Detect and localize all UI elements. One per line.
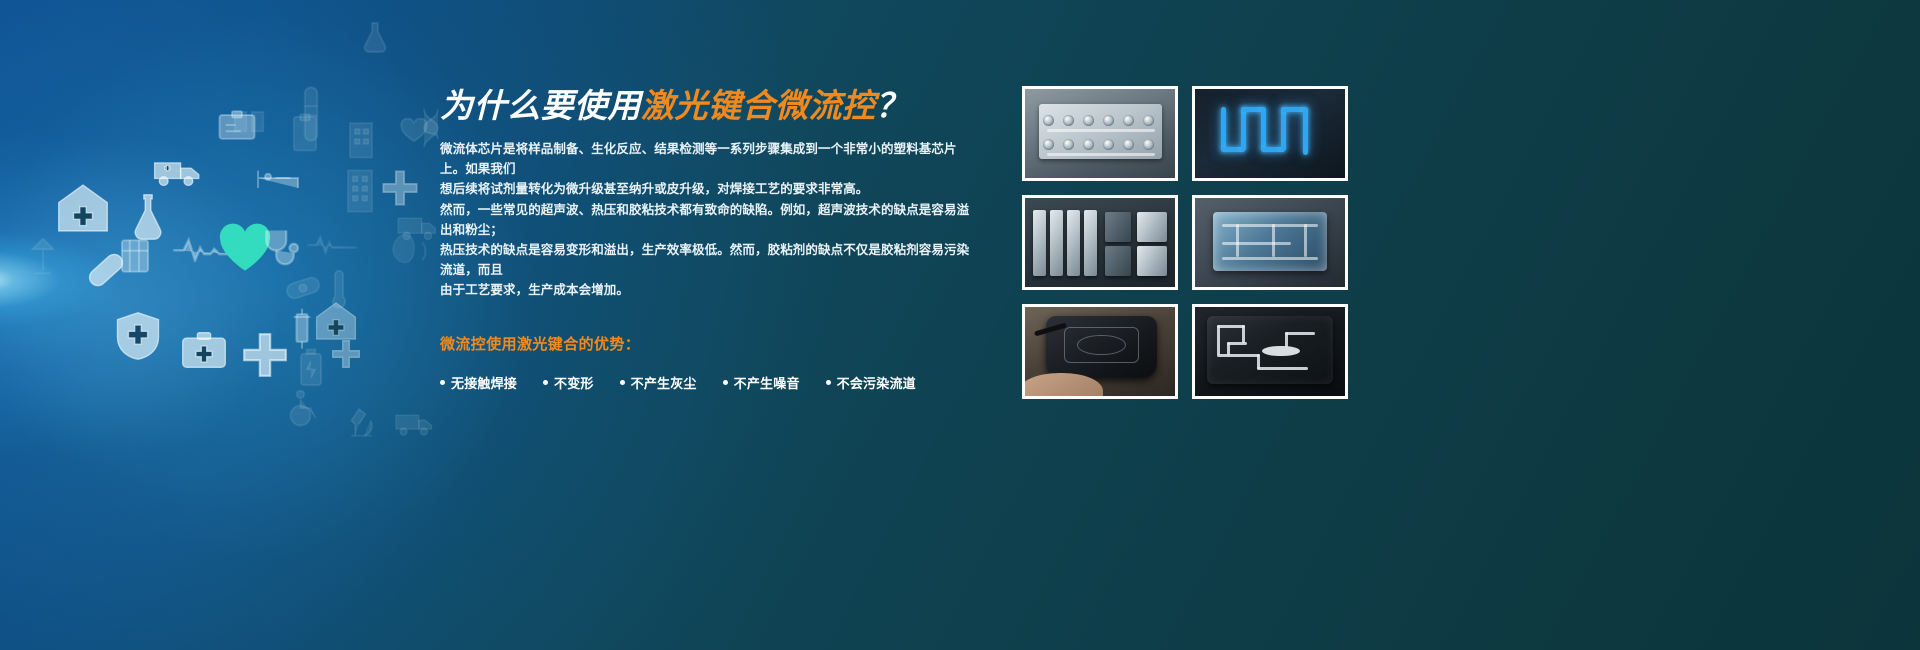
truck-icon — [396, 212, 440, 242]
id-card-icon — [218, 110, 256, 140]
photo-cartridge-channel-network[interactable] — [1192, 304, 1348, 399]
photo-flexible-cartridge-in-hand[interactable] — [1022, 304, 1178, 399]
photo-microfluidic-slide-array[interactable] — [1022, 195, 1178, 290]
serpentine-channel — [1219, 103, 1321, 162]
headline-highlight: 激光键合微流控 — [641, 87, 876, 124]
bullet-dot-icon — [826, 380, 831, 385]
list-item-label: 不变形 — [554, 373, 594, 392]
list-item-label: 不产生噪音 — [734, 373, 800, 392]
kidney-icon — [390, 232, 428, 272]
advantages-subtitle: 微流控使用激光键合的优势： — [440, 333, 970, 354]
promo-banner: 为什么要使用激光键合微流控？ 微流体芯片是将样品制备、生化反应、结果检测等一系列… — [0, 0, 1920, 650]
flask-liquid-icon — [128, 192, 168, 242]
list-item-label: 不产生灰尘 — [631, 373, 697, 392]
building-tall-icon — [344, 168, 376, 214]
house-cross-icon — [56, 182, 110, 234]
bullet-dot-icon — [723, 380, 728, 385]
paragraph-line: 微流体芯片是将样品制备、生化反应、结果检测等一系列步骤集成到一个非常小的塑料基芯… — [440, 139, 970, 179]
heartbeat-icon-2 — [306, 233, 358, 257]
paragraph-line: 想后续将试剂量转化为微升级甚至纳升或皮升级，对焊接工艺的要求非常高。 — [440, 179, 970, 199]
tablet-icon — [118, 236, 152, 276]
ambulance-icon — [152, 155, 204, 189]
heartbeat-line-icon — [172, 236, 236, 262]
photo-transparent-manifold-block[interactable] — [1192, 195, 1348, 290]
ambulance-side-icon — [394, 410, 436, 438]
reaction-chamber — [1262, 346, 1300, 357]
book-icon — [232, 108, 266, 134]
headline-suffix: ？ — [876, 87, 910, 124]
light-beam — [0, 150, 380, 410]
advantages-list: 无接触焊接 不变形 不产生灰尘 不产生噪音 不会污染流道 — [440, 373, 970, 392]
page-title: 为什么要使用激光键合微流控？ — [440, 86, 970, 126]
battery-icon — [298, 348, 324, 388]
cross-icon — [380, 168, 420, 208]
heart-icon — [218, 222, 272, 272]
paragraph-line: 由于工艺要求，生产成本会增加。 — [440, 280, 970, 300]
product-photo-gallery — [1022, 86, 1348, 399]
cartridge-card — [1207, 316, 1333, 384]
body-paragraph: 微流体芯片是将样品制备、生化反应、结果检测等一系列步骤集成到一个非常小的塑料基芯… — [440, 139, 970, 301]
well-array — [1025, 89, 1175, 178]
bullet-dot-icon — [440, 380, 445, 385]
test-tube-icon — [300, 85, 322, 143]
lamp-icon — [24, 236, 62, 276]
bullet-dot-icon — [620, 380, 625, 385]
photo-microfluidic-chip-round-wells[interactable] — [1022, 86, 1178, 181]
microscope-icon — [340, 402, 378, 444]
wheelchair-icon — [284, 388, 322, 428]
syringe-icon — [288, 306, 316, 350]
building-icon — [346, 118, 376, 160]
house-medical-icon — [314, 300, 358, 342]
list-item: 无接触焊接 — [440, 373, 517, 392]
shield-cross-icon — [112, 310, 164, 362]
list-item-label: 不会污染流道 — [837, 373, 916, 392]
hospital-bed-icon — [255, 163, 301, 193]
photo-serpentine-channel-chip[interactable] — [1192, 86, 1348, 181]
bandage-icon — [284, 272, 322, 304]
paragraph-line: 然而，一些常见的超声波、热压和胶粘技术都有致命的缺陷。例如，超声波技术的缺点是容… — [440, 200, 970, 240]
headline-prefix: 为什么要使用 — [440, 87, 641, 124]
stethoscope-icon — [258, 228, 302, 268]
flask-icon — [358, 14, 392, 60]
clipboard-icon — [290, 113, 320, 153]
list-item: 不变形 — [543, 373, 594, 392]
list-item-label: 无接触焊接 — [451, 373, 517, 392]
paragraph-line: 热压技术的缺点是容易变形和溢出，生产效率极低。然而，胶粘剂的缺点不仅是胶粘剂容易… — [440, 240, 970, 280]
list-item: 不会污染流道 — [826, 373, 916, 392]
pill-icon — [84, 248, 128, 292]
bullet-dot-icon — [543, 380, 548, 385]
manifold-body — [1213, 212, 1327, 271]
thermometer-icon — [330, 268, 348, 312]
list-item: 不产生灰尘 — [620, 373, 697, 392]
heart-outline-icon — [400, 118, 428, 144]
medical-cross-large-icon — [240, 330, 290, 380]
list-item: 不产生噪音 — [723, 373, 800, 392]
cross-icon-small — [330, 338, 362, 370]
first-aid-kit-icon — [180, 330, 228, 370]
content-column: 为什么要使用激光键合微流控？ 微流体芯片是将样品制备、生化反应、结果检测等一系列… — [440, 86, 970, 392]
